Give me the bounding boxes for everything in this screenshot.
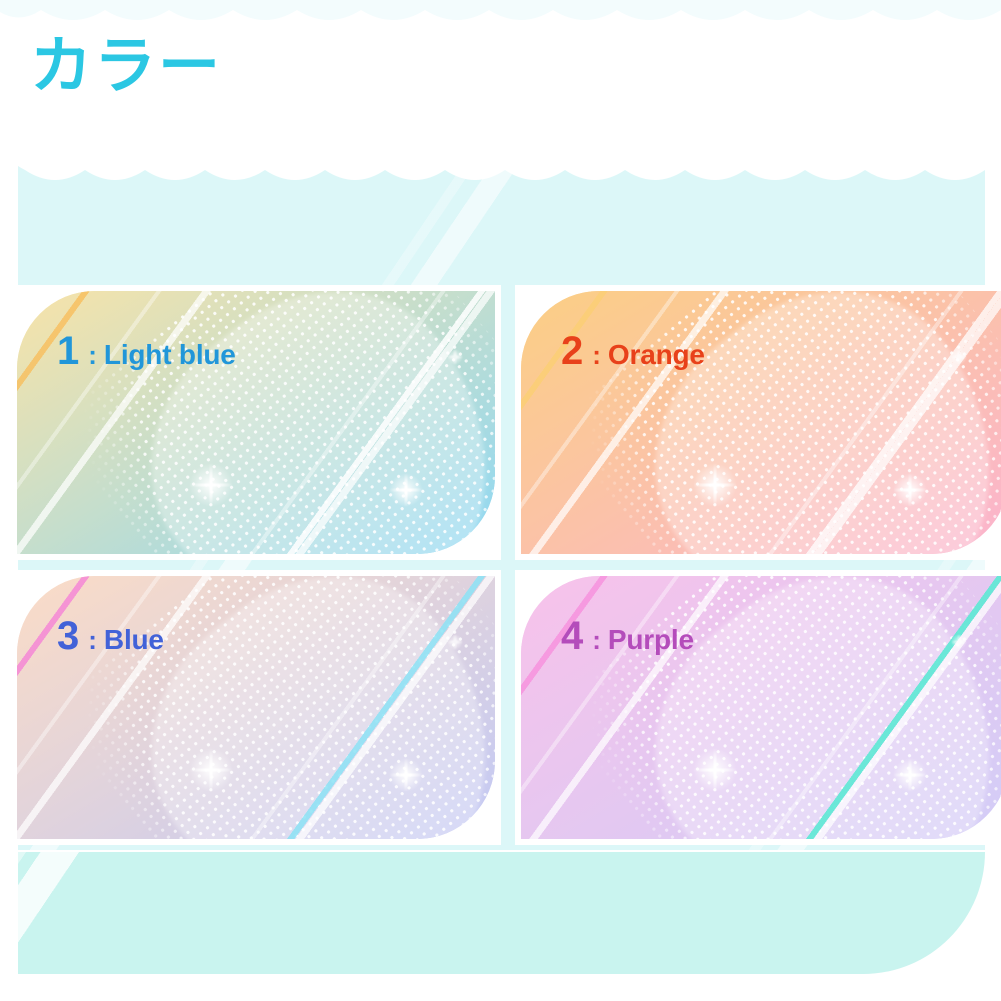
card-number-1: 1 [57,331,79,371]
card-number-3: 3 [57,616,79,656]
card-separator-4: : [592,627,601,653]
color-card-blue[interactable]: 3 : Blue [17,576,495,839]
sparkle-star-icon [693,748,737,792]
card-number-4: 4 [561,616,583,656]
card-label-1: 1 : Light blue [57,331,236,371]
sparkle-star-icon [693,463,737,507]
sparkle-star-icon [951,349,967,365]
color-card-light-blue[interactable]: 1 : Light blue [17,291,495,554]
card-color-name-2: Orange [608,341,705,369]
card-color-name-4: Purple [608,626,694,654]
top-scallop-wave-icon [0,0,1001,30]
sparkle-star-icon [447,634,463,650]
sparkle-star-icon [951,634,967,650]
card-frame-1: 1 : Light blue [11,285,501,560]
color-card-purple[interactable]: 4 : Purple [521,576,1001,839]
card-number-2: 2 [561,331,583,371]
card-color-name-3: Blue [104,626,164,654]
sparkle-star-icon [189,463,233,507]
card-separator-1: : [88,342,97,368]
color-card-orange[interactable]: 2 : Orange [521,291,1001,554]
sparkle-star-icon [447,349,463,365]
card-separator-2: : [592,342,601,368]
sparkle-star-icon [893,473,927,507]
card-frame-3: 3 : Blue [11,570,501,845]
sparkle-star-icon [389,758,423,792]
card-separator-3: : [88,627,97,653]
card-color-name-1: Light blue [104,341,236,369]
sparkle-star-icon [893,758,927,792]
bottom-mint-panel [18,852,985,974]
sparkle-star-icon [389,473,423,507]
card-frame-4: 4 : Purple [515,570,1001,845]
panel-scallop-wave-icon [18,162,985,188]
card-label-4: 4 : Purple [561,616,694,656]
sparkle-star-icon [189,748,233,792]
card-frame-2: 2 : Orange [515,285,1001,560]
card-label-3: 3 : Blue [57,616,164,656]
card-label-2: 2 : Orange [561,331,705,371]
page-root: カラー 1 : Light blue [0,0,1001,1001]
bottom-panel-diagonal-streaks-icon [18,852,985,974]
page-title: カラー [30,34,222,99]
